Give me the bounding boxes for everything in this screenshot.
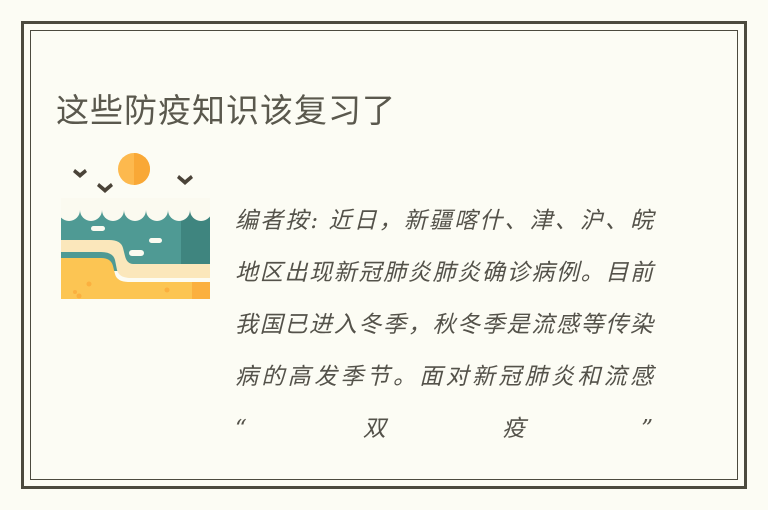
article-body-text: 编者按: 近日，新疆喀什、津、沪、皖地区出现新冠肺炎肺炎确诊病例。目前我国已进入…	[235, 195, 654, 507]
beach-scene-illustration	[61, 148, 210, 299]
sun-icon	[118, 153, 150, 185]
article-card-frame: 这些防疫知识该复习了	[21, 21, 747, 489]
sand-shadow-rect	[192, 282, 210, 299]
article-content: 这些防疫知识该复习了	[24, 24, 744, 486]
article-body-region: 编者按: 近日，新疆喀什、津、沪、皖地区出现新冠肺炎肺炎确诊病例。目前我国已进入…	[24, 24, 744, 486]
